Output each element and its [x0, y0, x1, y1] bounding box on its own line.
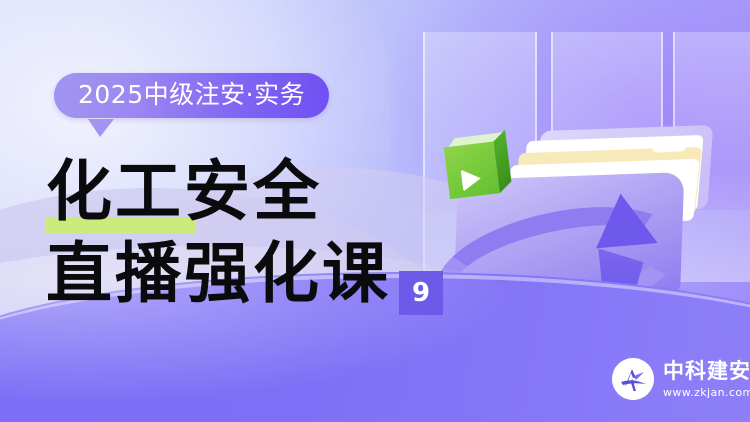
brand-logo: 中科建安 www.zkjan.com	[612, 358, 750, 400]
course-tag-label: 2025中级注安·实务	[54, 73, 329, 118]
brand-name: 中科建安	[663, 361, 750, 382]
title-line-1: 化工安全	[46, 150, 466, 232]
episode-badge: 9	[399, 271, 443, 315]
folder-tab-icon	[652, 141, 686, 153]
brand-logo-icon	[612, 358, 654, 400]
course-tag-tail	[88, 119, 114, 137]
title-line-1-row: 化工安全	[46, 150, 466, 232]
course-tag: 2025中级注安·实务	[54, 73, 329, 118]
brand-url: www.zkjan.com	[663, 387, 750, 398]
course-poster: 2025中级注安·实务 化工安全 直播强化课 9 中科建安 www.zkjan.…	[0, 0, 750, 422]
brand-logo-text: 中科建安 www.zkjan.com	[663, 361, 750, 398]
